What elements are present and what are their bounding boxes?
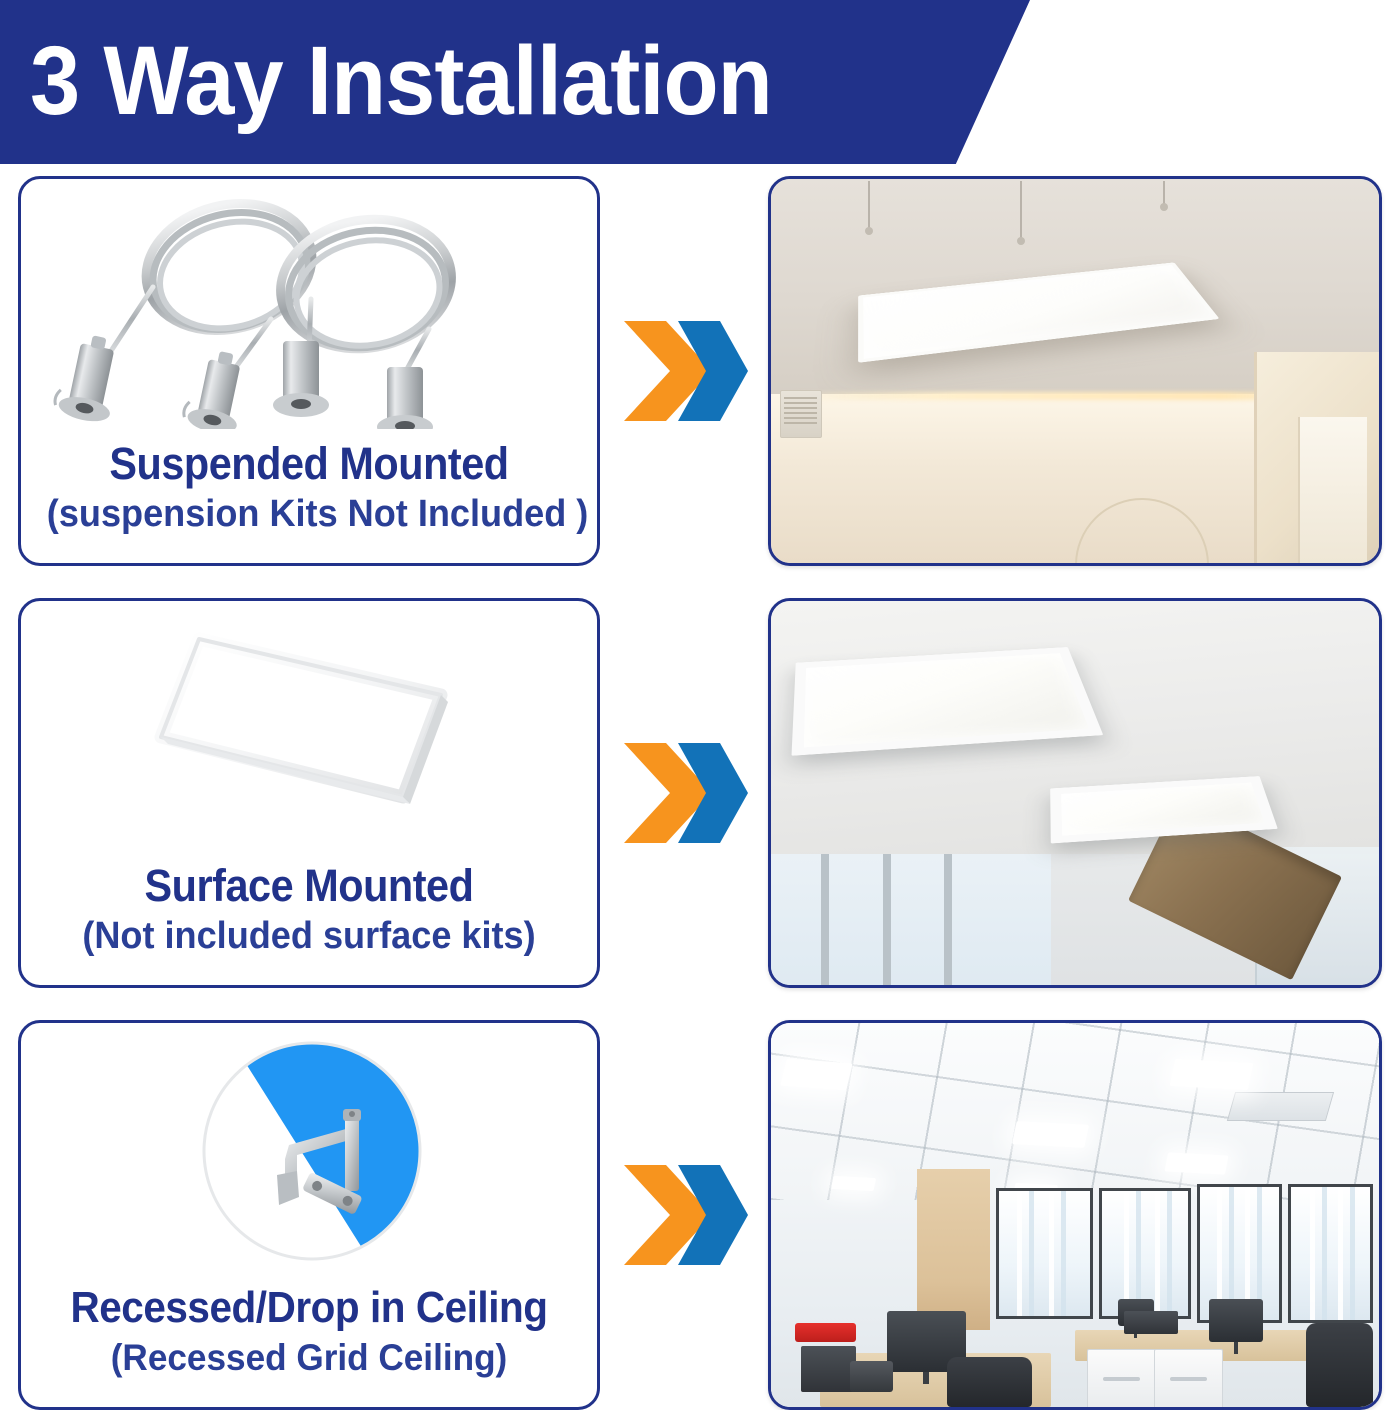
photo-card-suspended[interactable]: Suspended LED panel hanging from ceiling…: [768, 176, 1382, 566]
product-card-surface[interactable]: Surface Mounted (Not included surface ki…: [18, 598, 600, 988]
product-card-suspended[interactable]: Suspended Mounted (suspension Kits Not I…: [18, 176, 600, 566]
wood-partition: [917, 1169, 990, 1330]
caption-block-suspended: Suspended Mounted (suspension Kits Not I…: [21, 439, 597, 537]
installation-row-suspended: Suspended Mounted (suspension Kits Not I…: [0, 176, 1400, 566]
caption-main-recessed: Recessed/Drop in Ceiling: [55, 1283, 563, 1333]
double-chevron-right-icon-2: [622, 741, 750, 845]
office-window-4: [1288, 1184, 1373, 1322]
caption-sub-recessed: (Recessed Grid Ceiling): [47, 1335, 571, 1381]
caption-sub-suspended: (suspension Kits Not Included ): [47, 491, 571, 537]
double-chevron-right-icon-1: [622, 319, 750, 423]
caption-block-recessed: Recessed/Drop in Ceiling (Recessed Grid …: [21, 1283, 597, 1381]
installation-rows: Suspended Mounted (suspension Kits Not I…: [0, 176, 1400, 1410]
caption-main-suspended: Suspended Mounted: [55, 439, 563, 489]
document-tray-stack-2: [1124, 1311, 1179, 1334]
caption-block-surface: Surface Mounted (Not included surface ki…: [21, 861, 597, 959]
ceiling-ac-vent: [1227, 1092, 1335, 1121]
product-card-recessed[interactable]: Recessed/Drop in Ceiling (Recessed Grid …: [18, 1020, 600, 1410]
red-document-tray: [795, 1323, 856, 1342]
surface-mount-frame-icon: [21, 601, 597, 851]
scene-surface-ceiling: Two surface mounted LED panels on a whit…: [771, 601, 1379, 985]
monitor-2: [1209, 1299, 1264, 1341]
scene-office-grid-ceiling: Open plan office with recessed LED panel…: [771, 1023, 1379, 1407]
double-chevron-right-icon-3: [622, 1163, 750, 1267]
caption-sub-surface: (Not included surface kits): [47, 913, 571, 959]
scene-suspended-room: Suspended LED panel hanging from ceiling…: [771, 179, 1379, 563]
office-window-1: [996, 1188, 1093, 1319]
grid-ceiling-bracket-badge-icon: [21, 1023, 597, 1273]
suspension-cable-kit-icon: [21, 179, 597, 429]
air-vent-icon: [780, 390, 822, 438]
installation-row-recessed: Recessed/Drop in Ceiling (Recessed Grid …: [0, 1020, 1400, 1410]
cabinet-1: [1087, 1349, 1156, 1407]
photo-card-surface[interactable]: Two surface mounted LED panels on a whit…: [768, 598, 1382, 988]
office-chair-1: [947, 1357, 1032, 1407]
desk-phone: [850, 1361, 893, 1392]
caption-main-surface: Surface Mounted: [55, 861, 563, 911]
photo-card-recessed[interactable]: Open plan office with recessed LED panel…: [768, 1020, 1382, 1410]
page-title: 3 Way Installation: [30, 6, 772, 156]
office-chair-2: [1306, 1323, 1373, 1407]
installation-row-surface: Surface Mounted (Not included surface ki…: [0, 598, 1400, 988]
cabinet-2: [1154, 1349, 1223, 1407]
document-tray-stack-1: [801, 1346, 856, 1392]
window: [771, 854, 1051, 985]
